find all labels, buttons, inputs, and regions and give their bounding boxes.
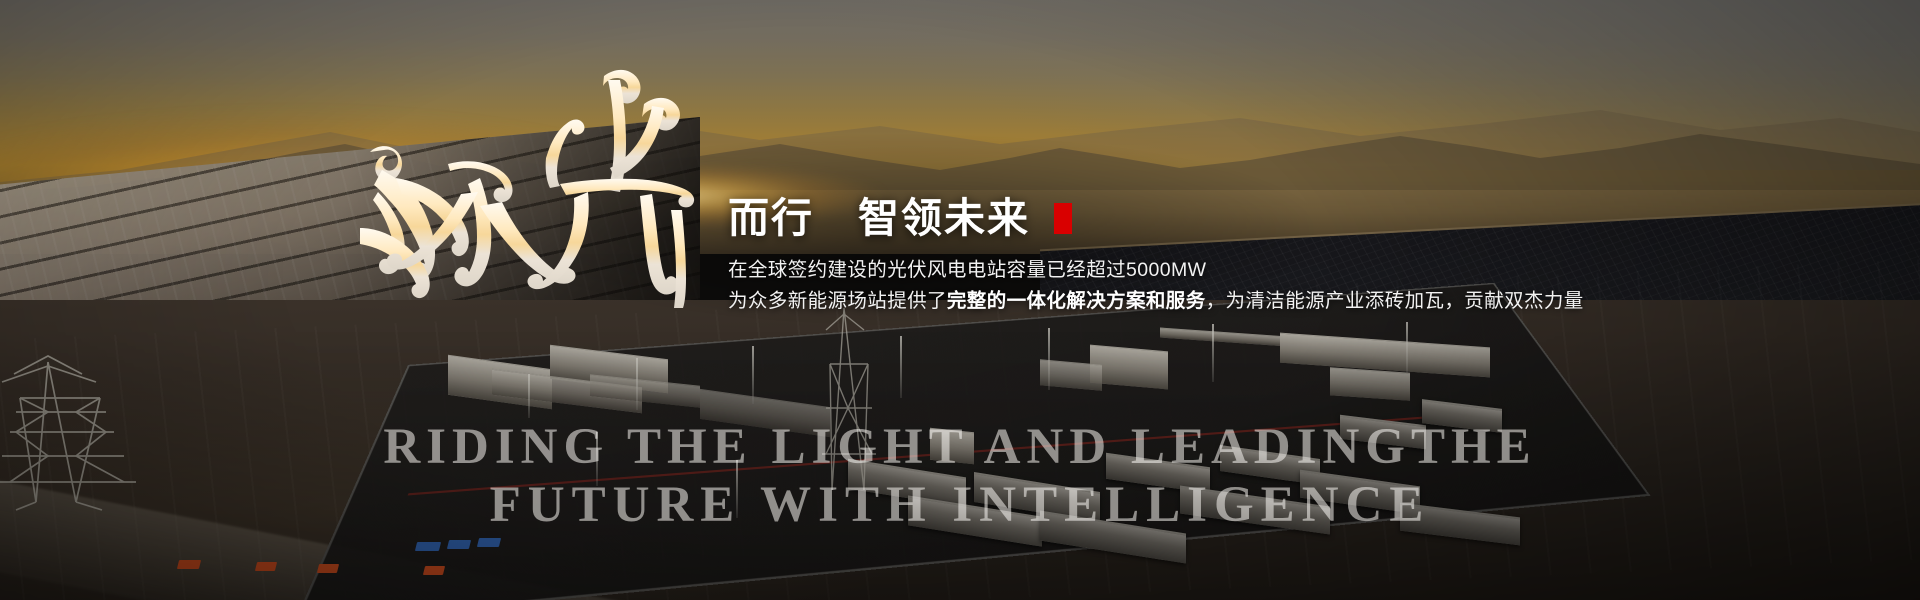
marker-flag bbox=[177, 560, 201, 569]
lattice-pylon-icon bbox=[818, 304, 878, 494]
page-title: 而行 智领未来 bbox=[728, 196, 1728, 242]
yard-light-pole bbox=[596, 432, 598, 486]
substation-facility bbox=[400, 300, 1580, 600]
hero-banner: RIDING THE LIGHT AND LEADINGTHE FUTURE W… bbox=[0, 0, 1920, 600]
subtitle-line-2-c: ，为清洁能源产业添砖加瓦，贡献双杰力量 bbox=[1206, 290, 1584, 312]
yard-light-pole bbox=[900, 336, 902, 398]
marker-sign bbox=[447, 540, 471, 549]
yard-light-pole bbox=[1406, 322, 1408, 374]
subtitle-line-2: 为众多新能源场站提供了完整的一体化解决方案和服务，为清洁能源产业添砖加瓦，贡献双… bbox=[728, 286, 1728, 318]
subtitle-line-1: 在全球签约建设的光伏风电电站容量已经超过5000MW bbox=[728, 255, 1728, 287]
transmission-tower-icon bbox=[0, 352, 150, 512]
yard-light-pole bbox=[736, 460, 738, 518]
inverter-station bbox=[1330, 367, 1410, 401]
marker-sign bbox=[477, 538, 501, 547]
subtitle-block: 在全球签约建设的光伏风电电站容量已经超过5000MW 为众多新能源场站提供了完整… bbox=[728, 255, 1728, 318]
marker-flag bbox=[317, 564, 339, 573]
headline-part-1: 而行 bbox=[728, 196, 814, 242]
yard-light-pole bbox=[528, 374, 530, 418]
yard-light-pole bbox=[1048, 328, 1050, 390]
subtitle-line-2-a: 为众多新能源场站提供了 bbox=[728, 290, 947, 312]
marker-sign bbox=[415, 542, 441, 551]
switchgear-house bbox=[930, 428, 974, 465]
marker-flag bbox=[423, 566, 445, 575]
yard-light-pole bbox=[752, 346, 754, 404]
headline-part-2: 智领未来 bbox=[858, 196, 1030, 242]
subtitle-line-2-emphasis: 完整的一体化解决方案和服务 bbox=[947, 290, 1206, 312]
accent-block bbox=[1054, 203, 1072, 234]
yard-light-pole bbox=[1212, 324, 1214, 382]
yard-light-pole bbox=[636, 358, 638, 410]
headline-copy-block: 而行 智领未来 在全球签约建设的光伏风电电站容量已经超过5000MW 为众多新能… bbox=[728, 196, 1728, 318]
marker-flag bbox=[255, 562, 277, 571]
